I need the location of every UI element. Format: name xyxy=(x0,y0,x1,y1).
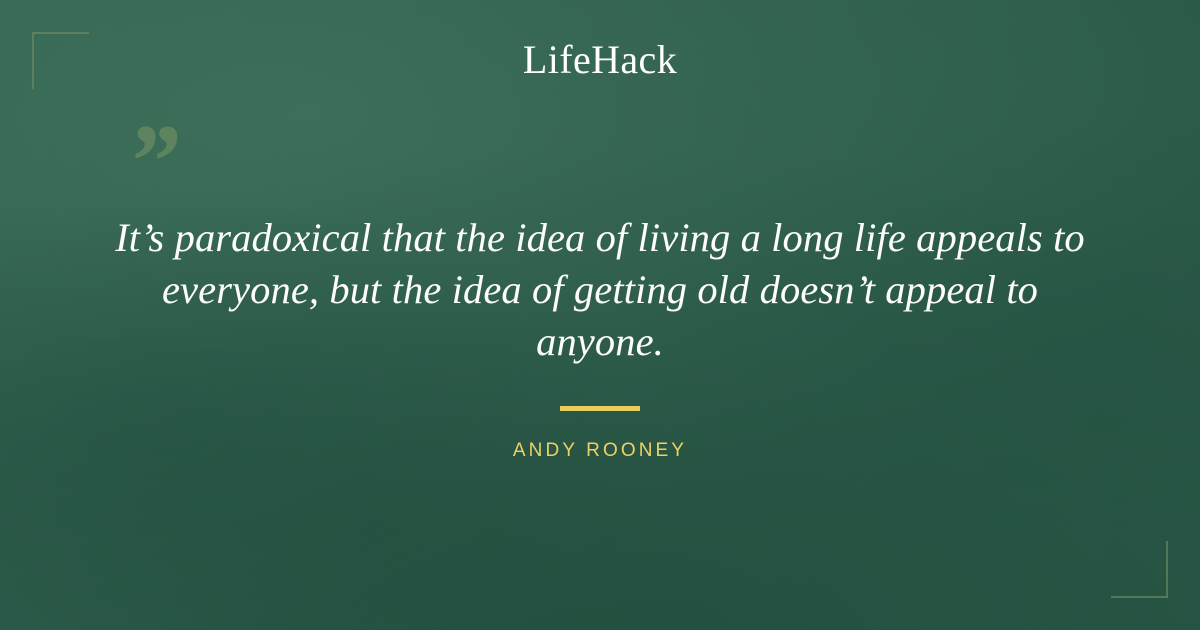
quote-line: anyone. xyxy=(95,316,1105,368)
brand-logo: LifeHack xyxy=(0,38,1200,82)
quote-line: everyone, but the idea of getting old do… xyxy=(95,264,1105,316)
quotation-mark-icon: ” xyxy=(126,109,179,215)
quote-text: It’s paradoxical that the idea of living… xyxy=(95,212,1105,368)
quote-author: ANDY ROONEY xyxy=(0,440,1200,462)
gold-divider xyxy=(560,406,640,411)
corner-bracket-bottom-right-icon xyxy=(1111,541,1168,598)
quote-card: LifeHack ” It’s paradoxical that the ide… xyxy=(0,0,1200,630)
quote-line: It’s paradoxical that the idea of living… xyxy=(95,212,1105,264)
